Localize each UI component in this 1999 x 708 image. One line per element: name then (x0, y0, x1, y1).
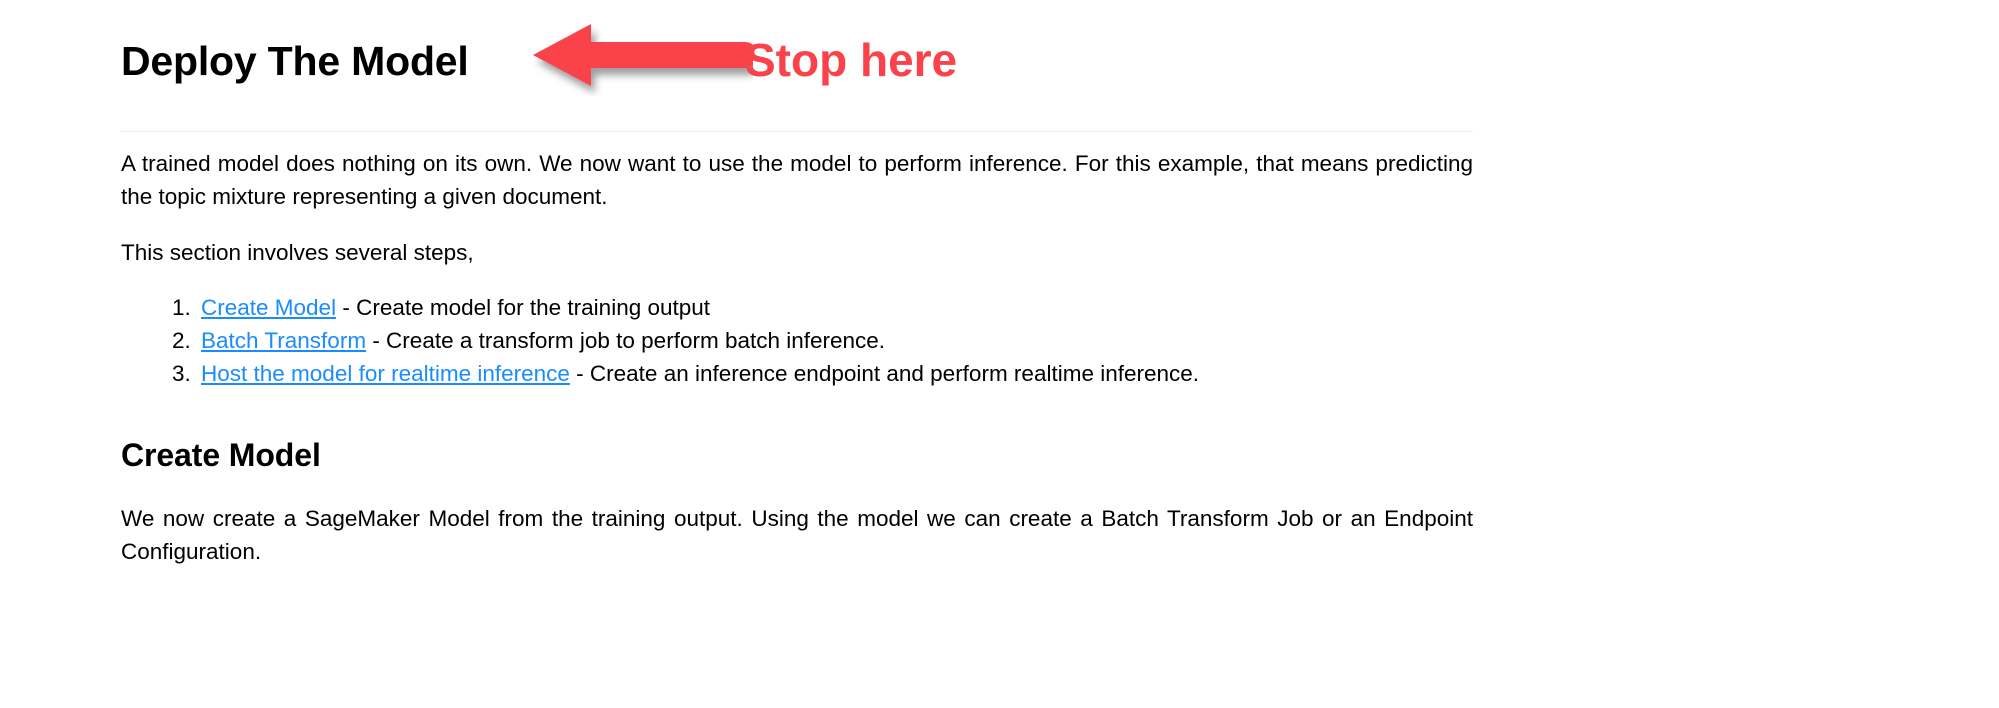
title-row: Deploy The Model Stop here (121, 0, 1473, 108)
annotation-label: Stop here (745, 29, 957, 91)
list-item: Host the model for realtime inference - … (197, 357, 1473, 390)
section-heading-create-model: Create Model (121, 432, 1473, 478)
steps-intro-paragraph: This section involves several steps, (121, 236, 1473, 269)
link-create-model[interactable]: Create Model (201, 295, 336, 320)
page-title: Deploy The Model (121, 31, 469, 91)
left-arrow-icon (533, 20, 753, 96)
list-item-text: - Create model for the training output (336, 295, 710, 320)
section-paragraph: We now create a SageMaker Model from the… (121, 502, 1473, 568)
document-content: Deploy The Model Stop here A trained (121, 0, 1473, 108)
link-host-the-model-for-realtime-inference[interactable]: Host the model for realtime inference (201, 361, 570, 386)
link-batch-transform[interactable]: Batch Transform (201, 328, 366, 353)
list-item: Batch Transform - Create a transform job… (197, 324, 1473, 357)
body-copy: A trained model does nothing on its own.… (121, 147, 1473, 568)
list-item: Create Model - Create model for the trai… (197, 291, 1473, 324)
title-divider (121, 131, 1473, 132)
document-page: Deploy The Model Stop here A trained (0, 0, 1999, 708)
deploy-steps-list: Create Model - Create model for the trai… (121, 291, 1473, 390)
intro-paragraph: A trained model does nothing on its own.… (121, 147, 1473, 213)
list-item-text: - Create a transform job to perform batc… (366, 328, 885, 353)
list-item-text: - Create an inference endpoint and perfo… (570, 361, 1199, 386)
